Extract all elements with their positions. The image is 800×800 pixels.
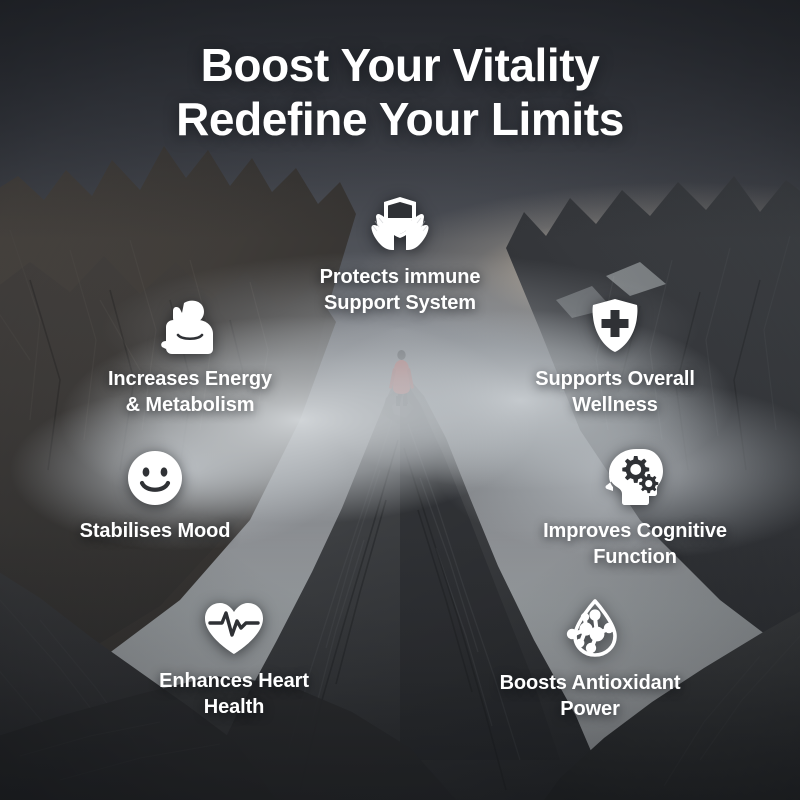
- head-gears-icon: [510, 446, 760, 508]
- benefit-label-immune: Protects immune Support System: [280, 264, 520, 316]
- benefit-label-heart: Enhances Heart Health: [120, 668, 348, 720]
- benefit-item-antioxidant[interactable]: Boosts Antioxidant Power: [468, 598, 712, 722]
- benefit-item-energy[interactable]: Increases Energy & Metabolism: [75, 296, 305, 418]
- poster-headline: Boost Your Vitality Redefine Your Limits: [0, 38, 800, 147]
- heart-pulse-icon: [120, 598, 348, 658]
- headline-line-2: Redefine Your Limits: [0, 92, 800, 146]
- hands-shield-icon: [280, 192, 520, 254]
- droplet-molecule-icon: [468, 598, 712, 660]
- smiley-face-icon: [45, 448, 265, 508]
- benefit-label-antioxidant: Boosts Antioxidant Power: [468, 670, 712, 722]
- benefit-label-cognitive: Improves Cognitive Function: [510, 518, 760, 570]
- benefit-item-cognitive[interactable]: Improves Cognitive Function: [510, 446, 760, 570]
- benefit-label-wellness: Supports Overall Wellness: [495, 366, 735, 418]
- vitality-infographic-poster: Boost Your Vitality Redefine Your Limits…: [0, 0, 800, 800]
- shield-cross-icon: [495, 296, 735, 356]
- benefit-item-immune[interactable]: Protects immune Support System: [280, 192, 520, 316]
- benefit-label-mood: Stabilises Mood: [45, 518, 265, 544]
- headline-line-1: Boost Your Vitality: [0, 38, 800, 92]
- benefit-item-wellness[interactable]: Supports Overall Wellness: [495, 296, 735, 418]
- flexed-bicep-icon: [75, 296, 305, 356]
- benefit-item-heart[interactable]: Enhances Heart Health: [120, 598, 348, 720]
- benefit-label-energy: Increases Energy & Metabolism: [75, 366, 305, 418]
- benefit-item-mood[interactable]: Stabilises Mood: [45, 448, 265, 544]
